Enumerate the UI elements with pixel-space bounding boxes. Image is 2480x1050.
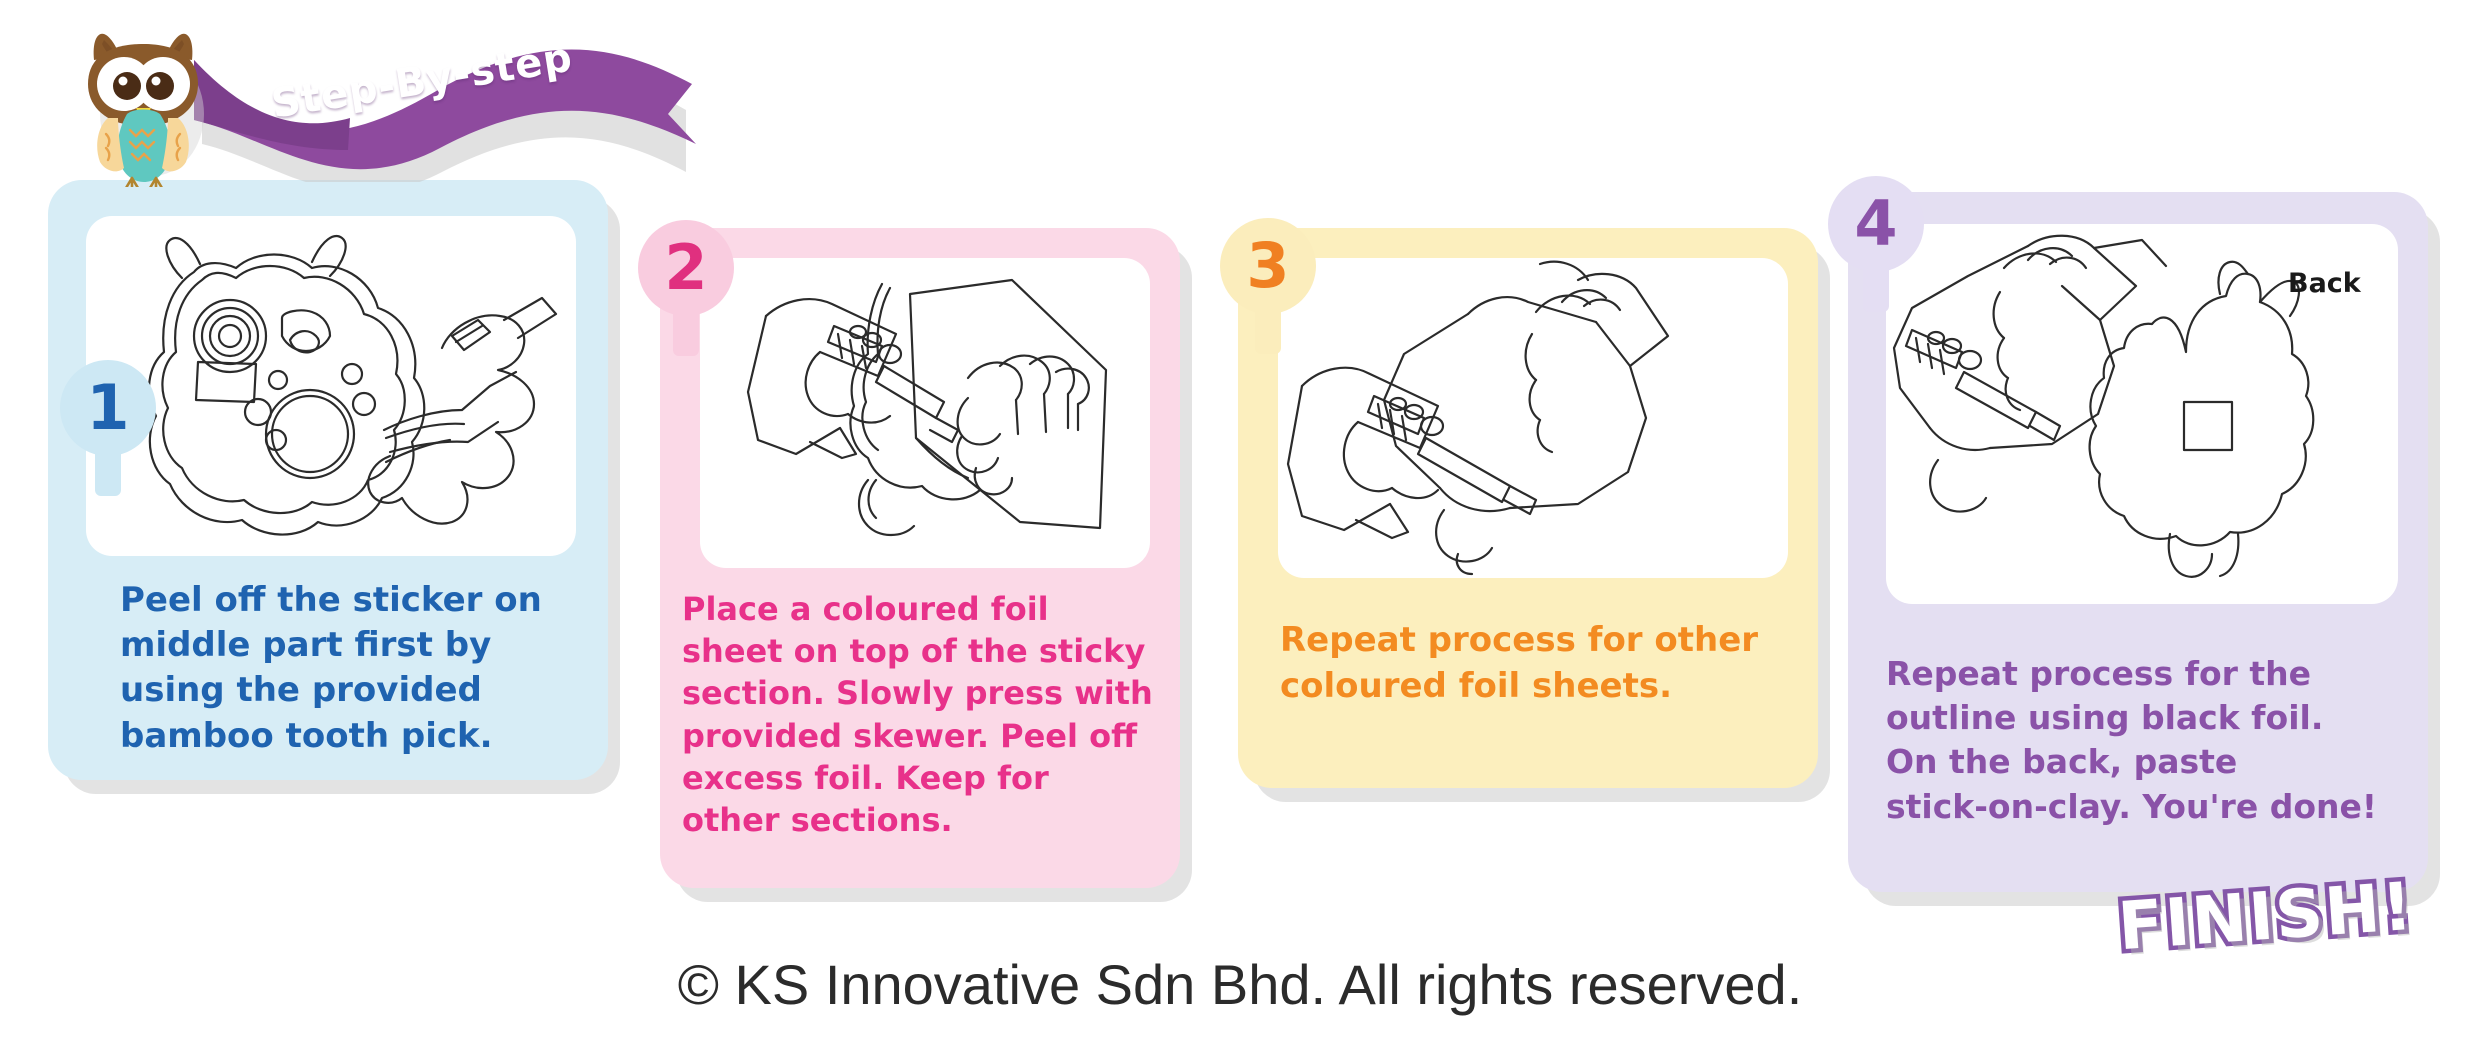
owl-mascot-icon [74,22,214,187]
step-card-2[interactable]: 2 Place a coloured foil sheet on top of … [660,228,1180,888]
step-number-3: 3 [1246,235,1289,297]
step-badge-1: 1 [60,360,156,456]
hands-repeating-foil-illustration [1278,258,1788,578]
copyright-footer: © KS Innovative Sdn Bhd. All rights rese… [0,952,2480,1017]
step-card-1[interactable]: 1 Peel off the sticker on middle part fi… [48,180,608,780]
step-number-4: 4 [1854,193,1897,255]
header-banner: Step-By-step [0,0,700,200]
hand-peeling-sticker-illustration [86,216,576,556]
step-caption-3: Repeat process for other coloured foil s… [1280,618,1820,709]
step-number-1: 1 [86,377,129,439]
step-badge-3: 3 [1220,218,1316,314]
step-card-3[interactable]: 3 Repeat process for other coloured foil… [1238,228,1818,788]
step-badge-4: 4 [1828,176,1924,272]
step-badge-2: 2 [638,220,734,316]
step-caption-2: Place a coloured foil sheet on top of th… [682,588,1182,841]
step-caption-1: Peel off the sticker on middle part firs… [120,578,590,759]
hands-pressing-foil-illustration [700,258,1150,568]
step-number-2: 2 [664,237,707,299]
step-caption-4: Repeat process for the outline using bla… [1886,652,2426,829]
back-side-label: Back [2288,268,2361,299]
